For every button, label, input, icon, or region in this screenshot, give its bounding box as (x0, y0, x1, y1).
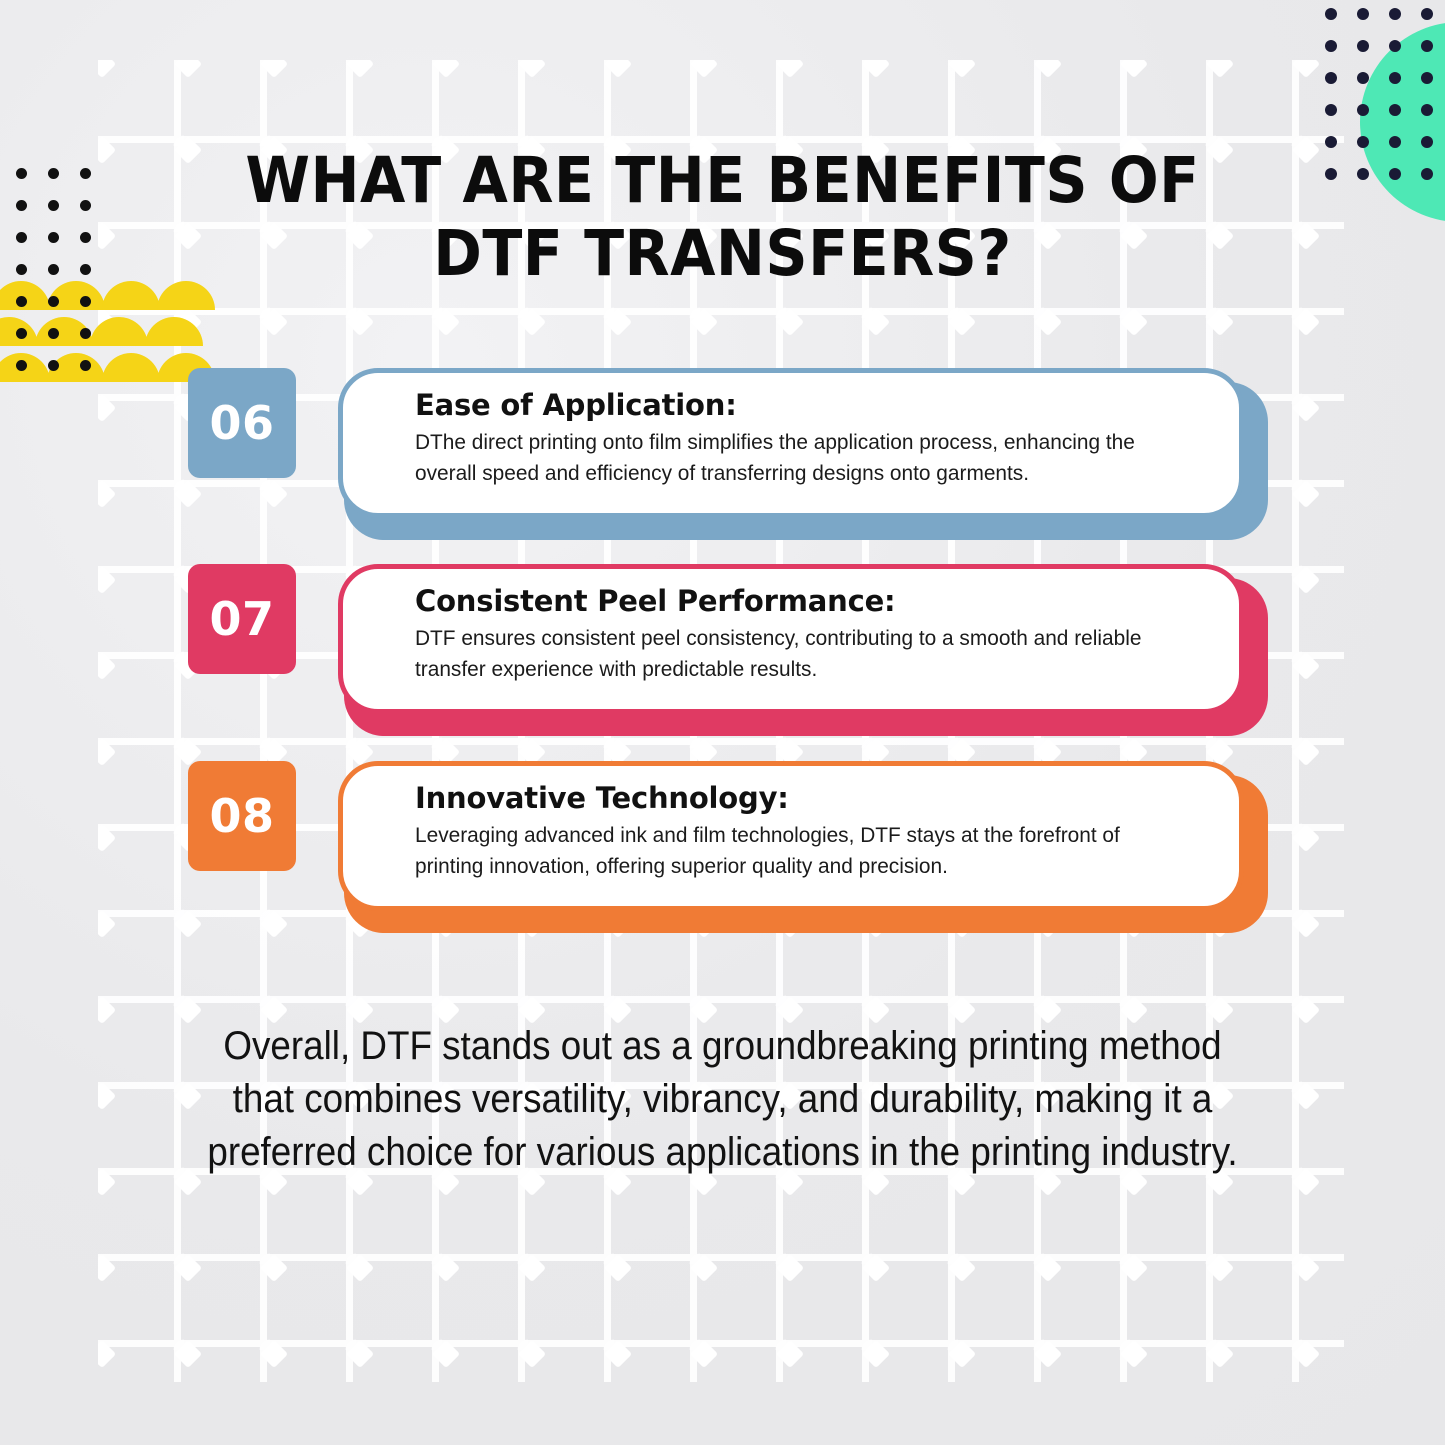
grid-diamond (98, 1167, 116, 1195)
decorative-dot (1325, 8, 1337, 20)
card-heading-07: Consistent Peel Performance: (415, 583, 1213, 619)
grid-diamond (173, 909, 201, 937)
grid-diamond (98, 393, 116, 421)
grid-diamond (947, 307, 975, 335)
grid-diamond (1119, 307, 1147, 335)
yellow-semicircle (145, 317, 203, 346)
grid-diamond (1033, 1253, 1061, 1281)
decorative-dot (1389, 104, 1401, 116)
grid-diamond (775, 307, 803, 335)
grid-diamond (1291, 221, 1319, 249)
decorative-dot (1357, 40, 1369, 52)
grid-diamond (603, 1253, 631, 1281)
grid-diamond (689, 60, 717, 78)
decorative-dot (1325, 136, 1337, 148)
yellow-semicircle (90, 317, 148, 346)
grid-diamond (947, 60, 975, 78)
grid-diamond (1291, 1167, 1319, 1195)
yellow-semicircle (102, 353, 160, 382)
badge-label-07: 07 (209, 592, 274, 646)
grid-diamond (1291, 1339, 1319, 1367)
decorative-dot (16, 264, 27, 275)
card-body-08: Innovative Technology: Leveraging advanc… (338, 761, 1244, 911)
decorative-dot (1421, 8, 1433, 20)
grid-diamond (98, 995, 116, 1023)
decorative-dot (1357, 8, 1369, 20)
decorative-dot (1421, 72, 1433, 84)
grid-diamond (259, 1339, 287, 1367)
grid-diamond (98, 909, 116, 937)
grid-diamond (1033, 60, 1061, 78)
badge-label-08: 08 (209, 789, 274, 843)
grid-diamond (517, 1253, 545, 1281)
decorative-dot (80, 296, 91, 307)
grid-diamond (1291, 823, 1319, 851)
grid-diamond (1119, 1253, 1147, 1281)
grid-diamond (775, 60, 803, 78)
decorative-dot (48, 264, 59, 275)
decorative-dot (1357, 168, 1369, 180)
grid-diamond (947, 1339, 975, 1367)
decorative-dot (1389, 136, 1401, 148)
grid-diamond (1205, 1253, 1233, 1281)
decorative-dot (1389, 72, 1401, 84)
decorative-dot (1325, 40, 1337, 52)
decorative-dot (1325, 72, 1337, 84)
decorative-dot (1421, 40, 1433, 52)
decorative-dot (1357, 104, 1369, 116)
grid-diamond (259, 1253, 287, 1281)
decorative-dot (16, 360, 27, 371)
grid-diamond (98, 823, 116, 851)
decorative-dot (16, 168, 27, 179)
decorative-dot (16, 328, 27, 339)
grid-diamond (98, 479, 116, 507)
grid-diamond (1033, 307, 1061, 335)
grid-diamond (603, 307, 631, 335)
decorative-dot (48, 328, 59, 339)
grid-diamond (173, 60, 201, 78)
grid-diamond (603, 1339, 631, 1367)
grid-diamond (689, 1253, 717, 1281)
grid-diamond (259, 307, 287, 335)
grid-diamond (1291, 909, 1319, 937)
decorative-dot (1389, 40, 1401, 52)
badge-label-06: 06 (209, 396, 274, 450)
grid-diamond (345, 1253, 373, 1281)
decorative-dot (1421, 136, 1433, 148)
card-heading-08: Innovative Technology: (415, 780, 1213, 816)
grid-diamond (98, 221, 116, 249)
grid-diamond (1291, 737, 1319, 765)
grid-diamond (1205, 60, 1233, 78)
decorative-dot (48, 168, 59, 179)
decorative-dot (80, 328, 91, 339)
grid-diamond (689, 307, 717, 335)
grid-diamond (259, 909, 287, 937)
grid-diamond (98, 60, 116, 78)
decorative-dot (16, 200, 27, 211)
grid-diamond (861, 307, 889, 335)
grid-diamond (98, 1339, 116, 1367)
grid-diamond (1205, 307, 1233, 335)
grid-diamond (861, 1253, 889, 1281)
grid-diamond (173, 995, 201, 1023)
grid-diamond (431, 1339, 459, 1367)
decorative-dot (1389, 8, 1401, 20)
yellow-semicircle (102, 281, 160, 310)
grid-diamond (517, 307, 545, 335)
grid-diamond (1291, 307, 1319, 335)
decorative-dot (16, 296, 27, 307)
decorative-dot (80, 264, 91, 275)
decorative-dot (1421, 104, 1433, 116)
badge-number-06: 06 (188, 368, 296, 478)
grid-diamond (173, 1167, 201, 1195)
decorative-dot (1325, 168, 1337, 180)
grid-diamond (98, 565, 116, 593)
grid-diamond (1291, 479, 1319, 507)
closing-paragraph: Overall, DTF stands out as a groundbreak… (205, 1020, 1240, 1178)
grid-diamond (775, 1339, 803, 1367)
grid-diamond (1291, 135, 1319, 163)
grid-diamond (98, 651, 116, 679)
badge-number-07: 07 (188, 564, 296, 674)
grid-diamond (517, 1339, 545, 1367)
decorative-dot (1421, 168, 1433, 180)
decorative-dot (16, 232, 27, 243)
grid-diamond (259, 479, 287, 507)
decorative-dot (1325, 104, 1337, 116)
grid-diamond (1119, 1339, 1147, 1367)
card-text-06: DThe direct printing onto film simplifie… (415, 427, 1189, 489)
grid-diamond (98, 135, 116, 163)
grid-diamond (1291, 651, 1319, 679)
grid-diamond (1033, 1339, 1061, 1367)
grid-diamond (1205, 1339, 1233, 1367)
grid-diamond (1291, 60, 1319, 78)
grid-diamond (173, 1339, 201, 1367)
grid-diamond (345, 307, 373, 335)
grid-diamond (431, 1253, 459, 1281)
card-body-06: Ease of Application: DThe direct printin… (338, 368, 1244, 518)
grid-diamond (861, 1339, 889, 1367)
grid-diamond (1291, 1081, 1319, 1109)
decorative-dot (80, 200, 91, 211)
badge-number-08: 08 (188, 761, 296, 871)
grid-diamond (345, 1339, 373, 1367)
infographic-canvas: WHAT ARE THE BENEFITS OF DTF TRANSFERS? … (0, 0, 1445, 1445)
grid-diamond (517, 60, 545, 78)
grid-diamond (431, 307, 459, 335)
decorative-dot (80, 168, 91, 179)
grid-diamond (1291, 995, 1319, 1023)
grid-diamond (603, 60, 631, 78)
grid-diamond (1291, 565, 1319, 593)
grid-diamond (98, 1253, 116, 1281)
page-title: WHAT ARE THE BENEFITS OF DTF TRANSFERS? (190, 144, 1255, 290)
grid-diamond (1119, 60, 1147, 78)
grid-diamond (98, 737, 116, 765)
grid-diamond (947, 1253, 975, 1281)
decorative-dot (48, 200, 59, 211)
teal-circle-decoration (1360, 22, 1445, 222)
grid-diamond (98, 1081, 116, 1109)
card-heading-06: Ease of Application: (415, 387, 1213, 423)
grid-diamond (345, 60, 373, 78)
decorative-dot (1357, 136, 1369, 148)
decorative-dot (80, 232, 91, 243)
decorative-dot (1389, 168, 1401, 180)
decorative-dot (80, 360, 91, 371)
grid-diamond (431, 60, 459, 78)
grid-diamond (861, 60, 889, 78)
grid-diamond (173, 1253, 201, 1281)
card-text-07: DTF ensures consistent peel consistency,… (415, 623, 1189, 685)
grid-diamond (173, 1081, 201, 1109)
decorative-dot (48, 296, 59, 307)
grid-diamond (1291, 393, 1319, 421)
card-text-08: Leveraging advanced ink and film technol… (415, 820, 1189, 882)
grid-diamond (259, 60, 287, 78)
decorative-dot (1357, 72, 1369, 84)
grid-diamond (689, 1339, 717, 1367)
decorative-dot (48, 232, 59, 243)
card-body-07: Consistent Peel Performance: DTF ensures… (338, 564, 1244, 714)
grid-diamond (775, 1253, 803, 1281)
grid-diamond (173, 479, 201, 507)
decorative-dot (48, 360, 59, 371)
grid-diamond (1291, 1253, 1319, 1281)
